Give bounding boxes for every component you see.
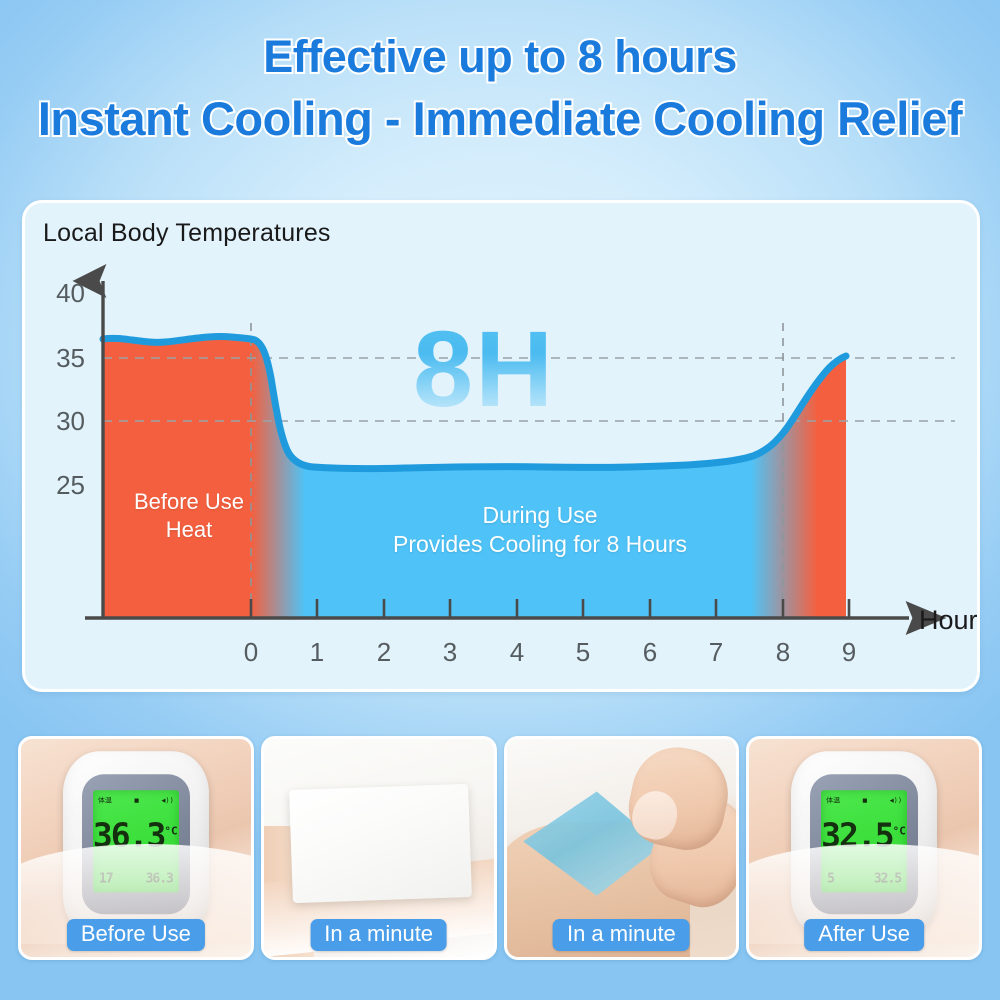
x-tick-label-3: 3 xyxy=(443,637,457,667)
headline-secondary: Instant Cooling - Immediate Cooling Reli… xyxy=(0,95,1000,142)
thermometer-body: 体温 ■ ◀)) 32.5°C 5 32.5 xyxy=(791,751,937,937)
lcd-memory-row: 5 32.5 xyxy=(827,871,901,886)
thumbnail-caption: After Use xyxy=(804,919,924,951)
lcd-temp-unit: °C xyxy=(893,824,906,837)
lcd-memory-index: 5 xyxy=(827,871,834,886)
y-tick-label-35: 35 xyxy=(56,343,85,373)
lcd-status-row: 体温 ■ ◀)) xyxy=(826,795,902,805)
cooling-patch-sheet xyxy=(289,784,472,904)
x-tick-label-4: 4 xyxy=(510,637,524,667)
lcd-status-row: 体温 ■ ◀)) xyxy=(98,795,174,805)
thermometer-body: 体温 ■ ◀)) 36.3°C 17 36.3 xyxy=(63,751,209,937)
x-tick-label-7: 7 xyxy=(709,637,723,667)
region-before-use xyxy=(103,337,251,618)
temperature-area-chart: 40 35 30 25 0 1 2 3 4 5 6 7 8 9 Hours xyxy=(25,203,980,692)
thumbnail-in-a-minute-gel[interactable]: In a minute xyxy=(504,736,740,960)
thumbnail-caption: In a minute xyxy=(553,919,690,951)
x-tick-label-1: 1 xyxy=(310,637,324,667)
region-after-use xyxy=(817,356,846,618)
lcd-display: 体温 ■ ◀)) 32.5°C 5 32.5 xyxy=(821,790,907,892)
lcd-memory-row: 17 36.3 xyxy=(99,871,173,886)
thumbnail-after-use[interactable]: 体温 ■ ◀)) 32.5°C 5 32.5 xyxy=(746,736,982,960)
chart-panel: Local Body Temperatures xyxy=(22,200,980,692)
lcd-temp-number: 36.3 xyxy=(93,815,164,854)
x-tick-label-0: 0 xyxy=(244,637,258,667)
thumbnail-in-a-minute-patch[interactable]: In a minute xyxy=(261,736,497,960)
header: Effective up to 8 hours Instant Cooling … xyxy=(0,34,1000,142)
thumbnail-strip: 体温 ■ ◀)) 36.3°C 17 36.3 xyxy=(18,736,982,966)
x-tick-label-8: 8 xyxy=(776,637,790,667)
lcd-memory-value: 32.5 xyxy=(874,871,901,886)
thumbnail-caption: Before Use xyxy=(67,919,205,951)
lcd-memory-index: 17 xyxy=(99,871,113,886)
speaker-icon: ◀)) xyxy=(889,796,902,804)
page-background: Effective up to 8 hours Instant Cooling … xyxy=(0,0,1000,1000)
lcd-temp-number: 32.5 xyxy=(821,815,892,854)
thermometer-screen-bezel: 体温 ■ ◀)) 36.3°C 17 36.3 xyxy=(82,774,190,914)
region-transition-left xyxy=(251,339,305,618)
x-axis-title: Hours xyxy=(919,605,980,635)
thermometer-screen-bezel: 体温 ■ ◀)) 32.5°C 5 32.5 xyxy=(810,774,918,914)
y-tick-label-40: 40 xyxy=(56,278,85,308)
lcd-temperature-value: 32.5°C xyxy=(821,818,903,851)
x-tick-label-6: 6 xyxy=(643,637,657,667)
lock-icon: ■ xyxy=(134,796,138,804)
x-tick-label-9: 9 xyxy=(842,637,856,667)
thumbnail-caption: In a minute xyxy=(310,919,447,951)
lcd-memory-value: 36.3 xyxy=(146,871,173,886)
region-transition-right xyxy=(751,378,817,618)
headline-primary: Effective up to 8 hours xyxy=(0,34,1000,79)
x-tick-label-5: 5 xyxy=(576,637,590,667)
speaker-icon: ◀)) xyxy=(161,796,174,804)
lcd-display: 体温 ■ ◀)) 36.3°C 17 36.3 xyxy=(93,790,179,892)
lock-icon: ■ xyxy=(863,796,867,804)
x-tick-label-2: 2 xyxy=(377,637,391,667)
y-tick-label-25: 25 xyxy=(56,470,85,500)
lcd-mode-icon: 体温 xyxy=(98,795,112,805)
lcd-mode-icon: 体温 xyxy=(826,795,840,805)
lcd-temp-unit: °C xyxy=(164,824,177,837)
thumbnail-before-use[interactable]: 体温 ■ ◀)) 36.3°C 17 36.3 xyxy=(18,736,254,960)
lcd-temperature-value: 36.3°C xyxy=(93,818,175,851)
y-tick-label-30: 30 xyxy=(56,406,85,436)
region-during-use xyxy=(305,458,751,618)
